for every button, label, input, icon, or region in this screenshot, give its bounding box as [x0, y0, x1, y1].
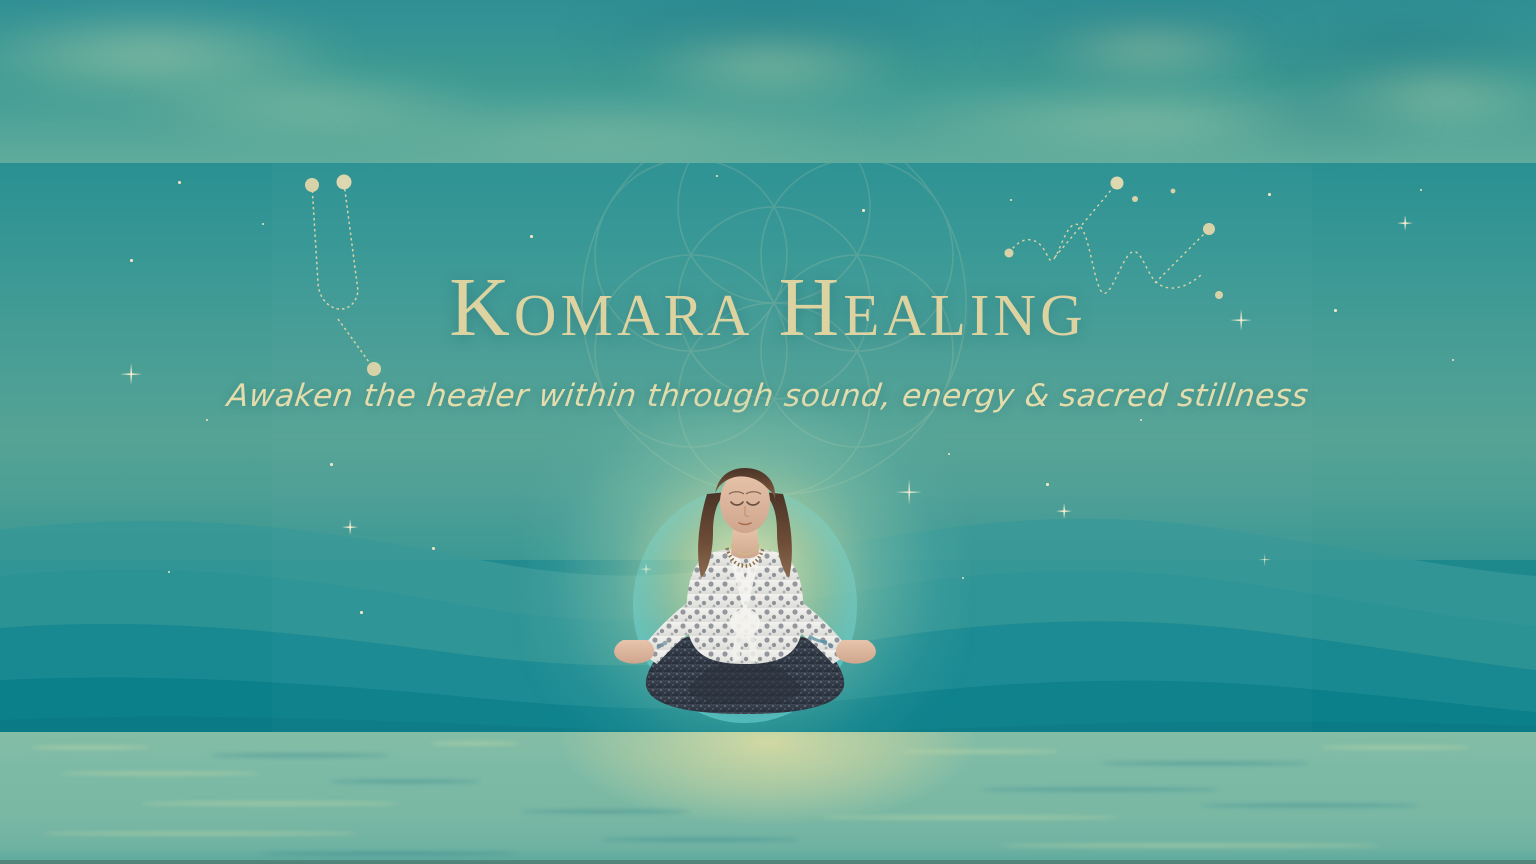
water-bottom-edge: [0, 860, 1536, 864]
meditating-figure: [595, 440, 895, 740]
page-title: Komara Healing: [0, 266, 1536, 350]
woman-lotus-pose-illustration: [595, 440, 895, 740]
hero-banner: Komara Healing Awaken the healer within …: [0, 0, 1536, 864]
